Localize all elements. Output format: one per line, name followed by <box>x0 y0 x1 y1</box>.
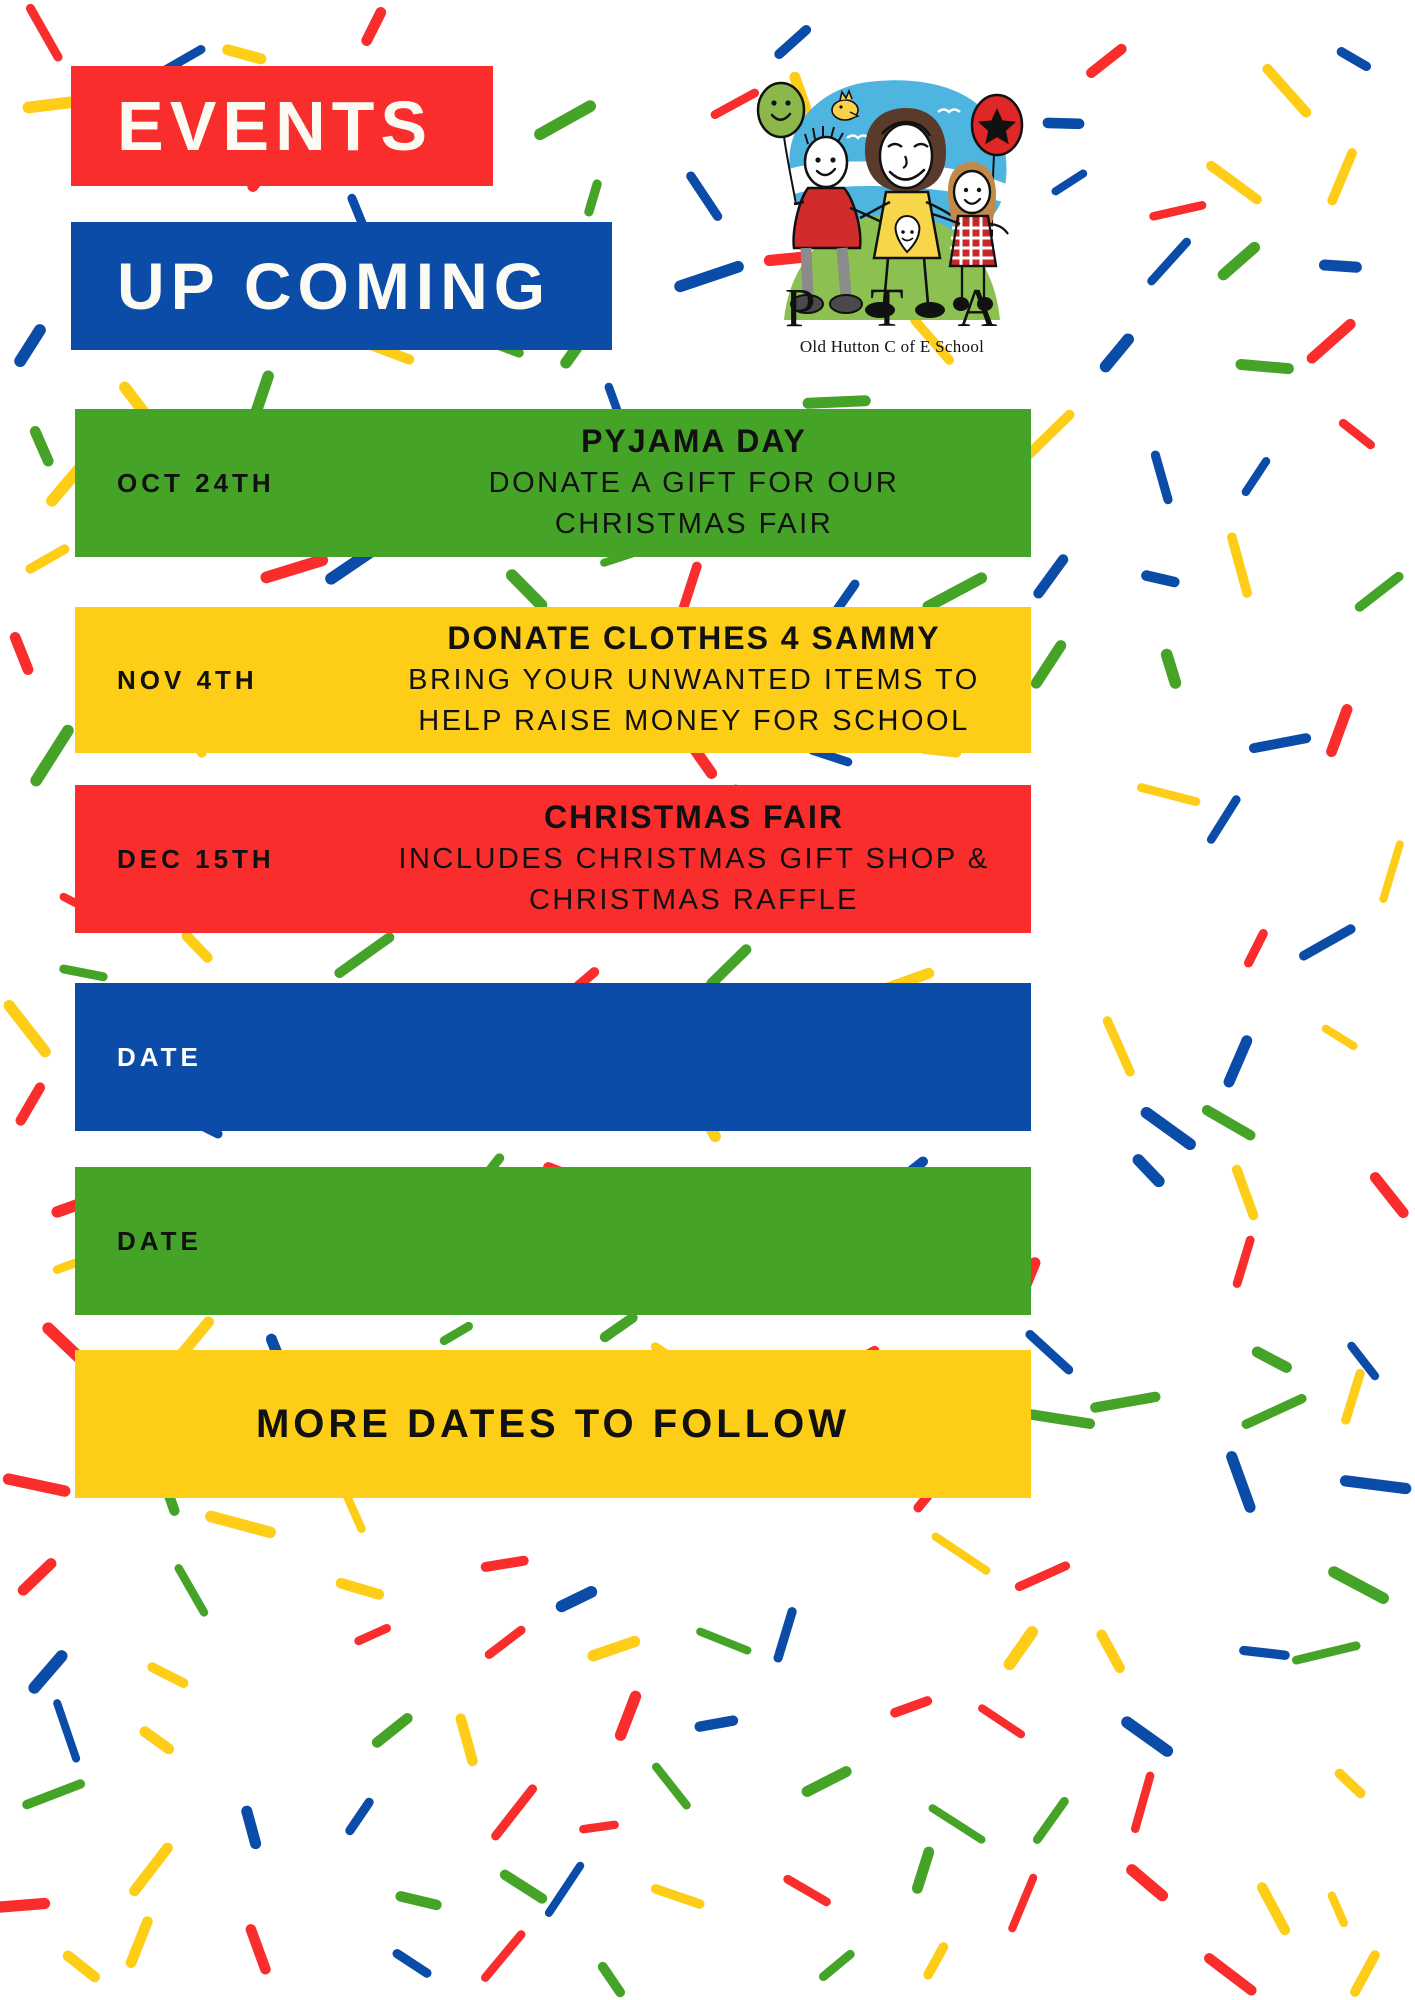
event-row-donate-clothes[interactable]: NOV 4TH DONATE CLOTHES 4 SAMMY BRING YOU… <box>75 607 1031 753</box>
event-row-placeholder-green[interactable]: DATE <box>75 1167 1031 1315</box>
event-date: NOV 4TH <box>75 665 375 696</box>
event-row-pyjama-day[interactable]: OCT 24TH PYJAMA DAY DONATE A GIFT FOR OU… <box>75 409 1031 557</box>
event-title: DONATE CLOTHES 4 SAMMY <box>375 620 1013 658</box>
event-subtitle-line-1: BRING YOUR UNWANTED ITEMS TO <box>375 661 1013 699</box>
event-title: CHRISTMAS FAIR <box>375 799 1013 837</box>
event-subtitle-line-1: INCLUDES CHRISTMAS GIFT SHOP & <box>375 840 1013 878</box>
events-heading-text: EVENTS <box>117 86 433 166</box>
event-row-placeholder-blue[interactable]: DATE <box>75 983 1031 1131</box>
event-details: PYJAMA DAY DONATE A GIFT FOR OUR CHRISTM… <box>375 423 1031 543</box>
event-date: OCT 24TH <box>75 468 375 499</box>
pta-school-name: Old Hutton C of E School <box>742 337 1042 357</box>
event-subtitle-line-2: HELP RAISE MONEY FOR SCHOOL <box>375 702 1013 740</box>
more-dates-text: MORE DATES TO FOLLOW <box>75 1402 1031 1447</box>
event-subtitle-line-2: CHRISTMAS FAIR <box>375 505 1013 543</box>
event-date: DATE <box>75 1226 375 1257</box>
poster-body: EVENTS UP COMING <box>0 0 1415 2000</box>
upcoming-heading-text: UP COMING <box>117 248 551 324</box>
pta-letters: P T A <box>742 280 1042 335</box>
pta-wordmark: P T A Old Hutton C of E School <box>742 280 1042 357</box>
upcoming-heading-banner: UP COMING <box>71 222 612 350</box>
events-heading-banner: EVENTS <box>71 66 493 186</box>
more-dates-footer-bar: MORE DATES TO FOLLOW <box>75 1350 1031 1498</box>
event-details: DONATE CLOTHES 4 SAMMY BRING YOUR UNWANT… <box>375 620 1031 740</box>
event-title: PYJAMA DAY <box>375 423 1013 461</box>
event-subtitle-line-2: CHRISTMAS RAFFLE <box>375 881 1013 919</box>
event-date: DATE <box>75 1042 375 1073</box>
event-date: DEC 15TH <box>75 844 375 875</box>
event-subtitle-line-1: DONATE A GIFT FOR OUR <box>375 464 1013 502</box>
event-row-christmas-fair[interactable]: DEC 15TH CHRISTMAS FAIR INCLUDES CHRISTM… <box>75 785 1031 933</box>
event-details: CHRISTMAS FAIR INCLUDES CHRISTMAS GIFT S… <box>375 799 1031 919</box>
